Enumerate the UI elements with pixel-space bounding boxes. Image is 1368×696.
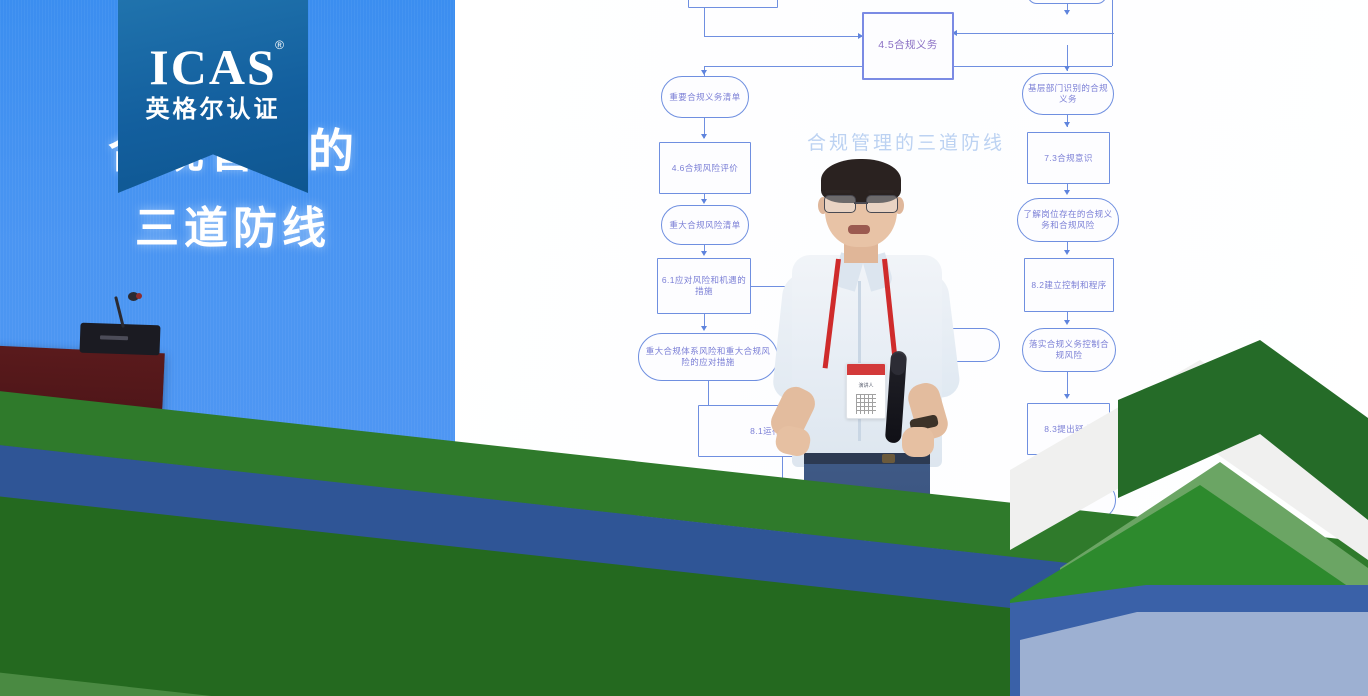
- arrow-down-icon: [1064, 122, 1070, 127]
- connector: [704, 66, 864, 67]
- arrow-down-icon: [1064, 250, 1070, 255]
- badge-name: 演讲人: [847, 382, 885, 389]
- flowchart-node: 7.3合规意识: [1027, 132, 1110, 184]
- presentation-screenshot: 合规管理: [0, 0, 1368, 696]
- arrow-down-icon: [1064, 10, 1070, 15]
- connector: [954, 33, 1114, 34]
- slide-watermark: 合规管理的三道防线: [807, 128, 1005, 155]
- flowchart-node: [688, 0, 778, 8]
- connector: [704, 36, 866, 37]
- connector: [1112, 0, 1113, 66]
- conference-badge: 演讲人: [846, 363, 886, 419]
- flowchart-node: 4.5合规义务: [862, 12, 954, 80]
- arrow-down-icon: [701, 199, 707, 204]
- glasses-icon: [822, 195, 900, 212]
- arrow-down-icon: [701, 251, 707, 256]
- flowchart-node: 重大合规体系风险和重大合规风险的应对措施: [638, 333, 778, 381]
- flowchart-node: 4.6合规风险评价: [659, 142, 751, 194]
- arrow-down-icon: [701, 134, 707, 139]
- flowchart-node: 8.2建立控制和程序: [1024, 258, 1114, 312]
- badge-header: [847, 364, 885, 375]
- qr-code-icon: [856, 394, 876, 414]
- wall-slide-title-line2: 三道防线: [58, 207, 408, 251]
- registered-trademark-icon: ®: [275, 38, 284, 52]
- podium-console: [80, 323, 161, 356]
- flowchart-node: 重要合规义务清单: [661, 76, 749, 118]
- flowchart-node: 6.1应对风险和机遇的措施: [657, 258, 751, 314]
- flowchart-node: 基层部门识别的合规义务: [1022, 73, 1114, 115]
- icas-chinese-name: 英格尔认证: [118, 98, 308, 122]
- arrow-down-icon: [1064, 320, 1070, 325]
- presenter-eyebrow-left: [825, 190, 851, 193]
- flowchart-node: 重大合规风险清单: [661, 205, 749, 245]
- arrow-down-icon: [701, 326, 707, 331]
- presenter-mouth: [848, 225, 870, 234]
- flowchart-node: [1027, 0, 1107, 4]
- arrow-down-icon: [1064, 190, 1070, 195]
- flowchart-node: 了解岗位存在的合规义务和合规风险: [1017, 198, 1119, 242]
- connector: [954, 66, 1112, 67]
- arrow-down-icon: [1064, 66, 1070, 71]
- microphone-icon: [128, 292, 139, 301]
- arrow-down-icon: [701, 70, 707, 75]
- presenter-eyebrow-right: [868, 190, 894, 193]
- presenter-hand-right: [902, 427, 934, 457]
